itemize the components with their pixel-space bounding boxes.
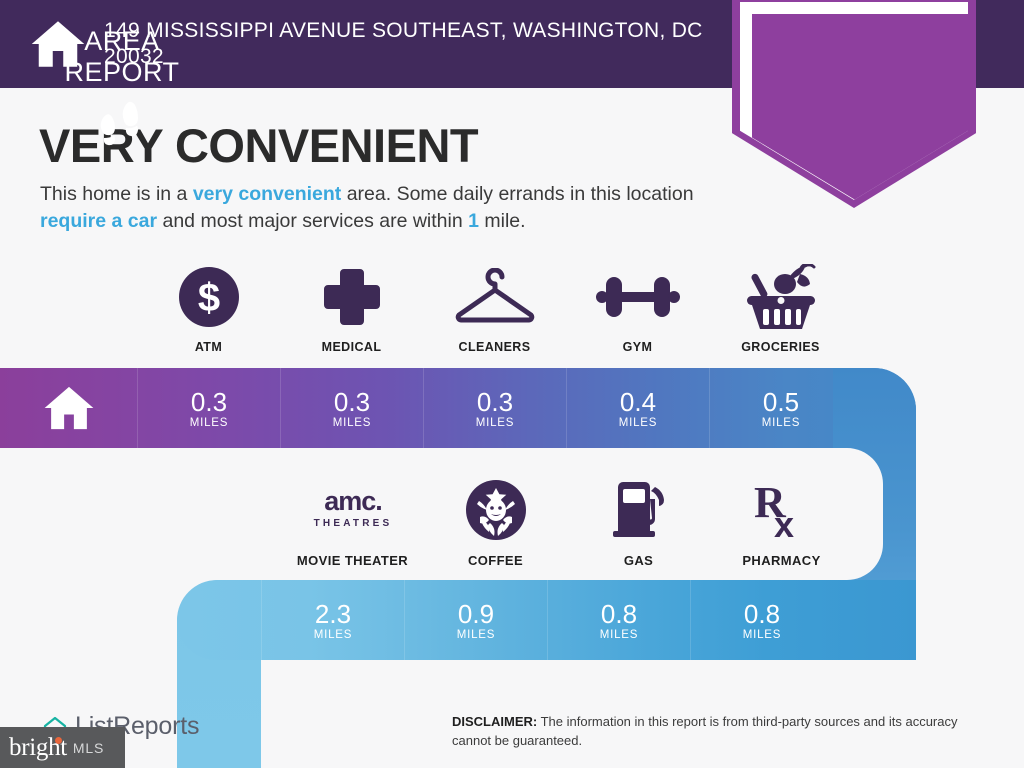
distance-value: 0.3 [334, 388, 370, 416]
distance-bar-row-2: 2.3 MILES 0.9 MILES 0.8 MILES 0.8 MILES [177, 580, 916, 660]
icon-art [596, 262, 680, 332]
amenity-label: GYM [623, 340, 653, 354]
gas-pump-icon [608, 479, 670, 541]
distance-unit: MILES [762, 417, 801, 429]
amenity-label: GAS [624, 553, 653, 568]
area-report-infographic: 149 MISSISSIPPI AVENUE SOUTHEAST, WASHIN… [0, 0, 1024, 768]
distance-cell-gym: 0.4 MILES [566, 368, 709, 448]
amenity-cleaners: CLEANERS [423, 262, 566, 354]
distance-cell-gas: 0.8 MILES [547, 580, 690, 660]
distance-value: 2.3 [315, 600, 351, 628]
distance-unit: MILES [457, 629, 496, 641]
blurb-highlight-car: require a car [40, 210, 157, 232]
hanger-icon [453, 268, 537, 326]
bright-mls-dot-icon [55, 737, 62, 744]
distance-value: 0.9 [458, 600, 494, 628]
icon-art: $ [178, 262, 240, 332]
distance-value: 0.5 [763, 388, 799, 416]
distance-cell-groceries: 0.5 MILES [709, 368, 852, 448]
badge-outer-shape [732, 0, 976, 208]
amenity-gym: GYM [566, 262, 709, 354]
icon-art [453, 262, 537, 332]
grocery-basket-icon [743, 264, 819, 330]
icon-art: amc. THEATRES [307, 475, 399, 545]
footprints-icon [97, 100, 147, 154]
distance-value: 0.8 [744, 600, 780, 628]
svg-text:THEATRES: THEATRES [313, 518, 392, 529]
starbucks-logo [465, 479, 527, 541]
distance-unit: MILES [600, 629, 639, 641]
amenity-label: MEDICAL [322, 340, 382, 354]
distance-cell-cleaners: 0.3 MILES [423, 368, 566, 448]
amenity-pharmacy: R x PHARMACY [710, 475, 853, 568]
bright-mls-suffix: MLS [73, 740, 104, 756]
distance-cell-medical: 0.3 MILES [280, 368, 423, 448]
amenity-medical: MEDICAL [280, 262, 423, 354]
amenity-label: MOVIE THEATER [297, 553, 408, 568]
svg-text:x: x [774, 504, 794, 541]
blurb-part-2: area. Some daily errands in this locatio… [341, 183, 693, 205]
bright-mls-brand: bright [9, 734, 67, 762]
badge-title-line1: AREA [0, 26, 244, 57]
distance-value: 0.8 [601, 600, 637, 628]
blurb-highlight-convenient: very convenient [193, 183, 341, 205]
home-icon [43, 385, 95, 431]
bar-home-marker [0, 385, 137, 431]
amenity-groceries: GROCERIES [709, 262, 852, 354]
distance-bar-row-1: 0.3 MILES 0.3 MILES 0.3 MILES 0.4 MILES … [0, 368, 916, 448]
bright-mls-watermark: bright MLS [0, 727, 125, 768]
amenity-movie-theater: amc. THEATRES MOVIE THEATER [281, 475, 424, 568]
icon-art: R x [750, 475, 814, 545]
icon-art [322, 262, 382, 332]
distance-unit: MILES [314, 629, 353, 641]
amenity-label: GROCERIES [741, 340, 820, 354]
rx-icon: R x [750, 479, 814, 541]
disclaimer: DISCLAIMER: The information in this repo… [452, 712, 982, 750]
icon-art [608, 475, 670, 545]
badge-white-border [740, 2, 968, 200]
amenity-label: ATM [195, 340, 222, 354]
bar-row-2-inner-notch [261, 660, 321, 768]
amenity-coffee: COFFEE [424, 475, 567, 568]
blurb-part-4: mile. [479, 210, 526, 232]
amc-theatres-logo: amc. THEATRES [307, 484, 399, 536]
distance-value: 0.4 [620, 388, 656, 416]
icon-art [465, 475, 527, 545]
dumbbell-icon [596, 271, 680, 323]
badge-title-line2: REPORT [0, 57, 244, 88]
distance-cell-movie-theater: 2.3 MILES [261, 580, 404, 660]
blurb-highlight-miles: 1 [468, 210, 479, 232]
distance-unit: MILES [333, 417, 372, 429]
amenity-label: PHARMACY [742, 553, 820, 568]
svg-text:$: $ [197, 276, 219, 320]
amenity-label: CLEANERS [459, 340, 531, 354]
icon-art [743, 262, 819, 332]
blurb-part-1: This home is in a [40, 183, 193, 205]
distance-cell-pharmacy: 0.8 MILES [690, 580, 833, 660]
amenity-icon-row-1: $ ATM MEDICAL CLEANERS [137, 262, 852, 354]
distance-value: 0.3 [191, 388, 227, 416]
distance-cell-atm: 0.3 MILES [137, 368, 280, 448]
distance-cell-coffee: 0.9 MILES [404, 580, 547, 660]
amenity-gas: GAS [567, 475, 710, 568]
distance-unit: MILES [619, 417, 658, 429]
amenity-atm: $ ATM [137, 262, 280, 354]
svg-text:amc.: amc. [324, 486, 382, 516]
medical-cross-icon [322, 267, 382, 327]
summary-text: This home is in a very convenient area. … [40, 181, 730, 235]
distance-unit: MILES [743, 629, 782, 641]
amenity-icon-row-2: amc. THEATRES MOVIE THEATER [281, 475, 853, 568]
disclaimer-label: DISCLAIMER: [452, 714, 537, 729]
atm-dollar-icon: $ [178, 266, 240, 328]
blurb-part-3: and most major services are within [157, 210, 468, 232]
distance-unit: MILES [476, 417, 515, 429]
badge-inner-shape [752, 14, 972, 204]
amenity-label: COFFEE [468, 553, 523, 568]
distance-value: 0.3 [477, 388, 513, 416]
distance-unit: MILES [190, 417, 229, 429]
badge-title: AREA REPORT [0, 26, 244, 88]
